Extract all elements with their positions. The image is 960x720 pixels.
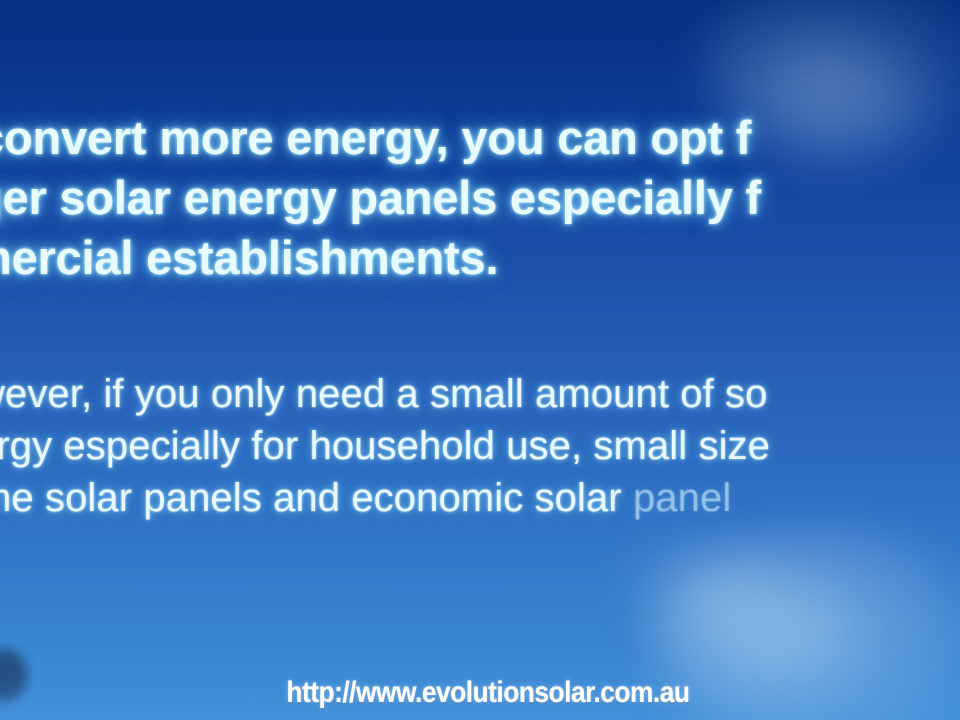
body-line-1: wever, if you only need a small amount o… (0, 368, 960, 420)
body-line-3: me solar panels and economic solar panel (0, 472, 960, 524)
headline-line-1: convert more energy, you can opt f (0, 108, 960, 168)
body-trailing-word: panel (633, 476, 731, 520)
body-text: wever, if you only need a small amount o… (0, 368, 960, 524)
website-url[interactable]: http://www.evolutionsolar.com.au (58, 676, 903, 710)
body-line-3-text: me solar panels and economic solar (0, 476, 633, 520)
video-slide: convert more energy, you can opt f ger s… (0, 0, 960, 720)
headline-line-2: ger solar energy panels especially f (0, 168, 960, 228)
body-line-2: ergy especially for household use, small… (0, 420, 960, 472)
headline-text: convert more energy, you can opt f ger s… (0, 108, 960, 288)
caption-layer: convert more energy, you can opt f ger s… (0, 0, 960, 720)
headline-line-3: mercial establishments. (0, 228, 960, 288)
